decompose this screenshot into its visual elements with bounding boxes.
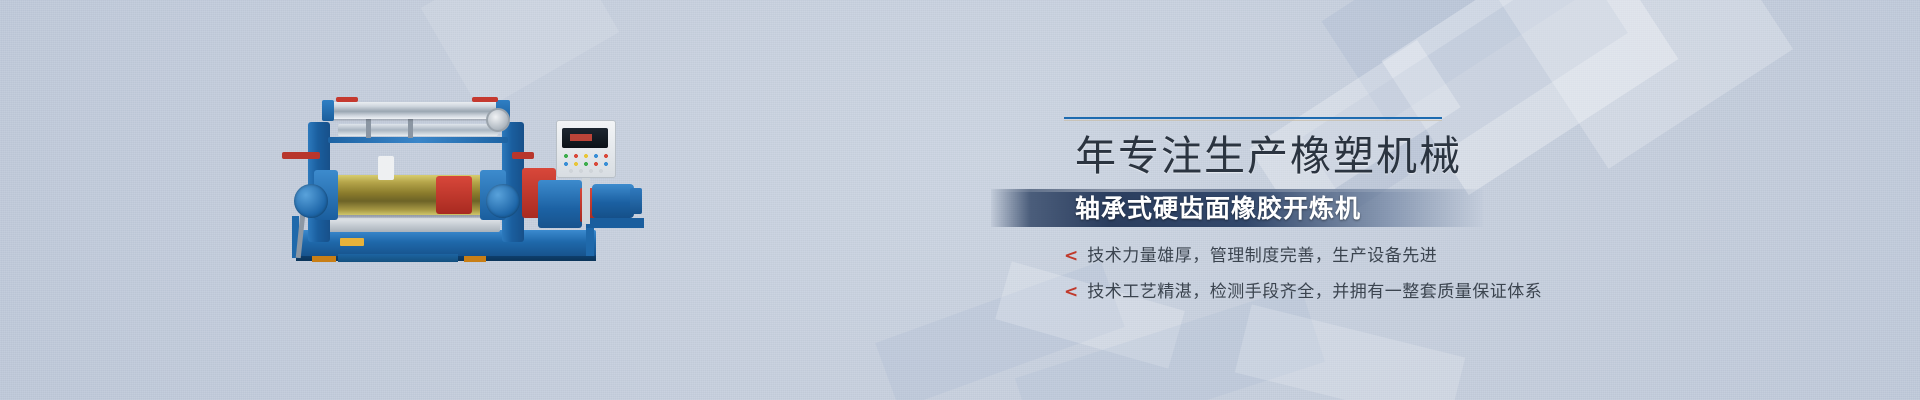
headline-rule-underline: [1064, 120, 1442, 121]
watermark-shape-4: [1467, 0, 1793, 169]
machine-base-slot: [338, 254, 458, 262]
machine-tray: [322, 218, 500, 232]
chevron-left-icon: <: [1064, 284, 1078, 301]
machine-top-roll-end-left: [322, 100, 334, 121]
machine-detail-red-right: [512, 152, 534, 159]
machine-control-panel-buttons: [562, 152, 610, 174]
machine-control-panel-post: [582, 178, 590, 224]
machine-foot-right: [464, 256, 486, 262]
feature-bullet-text: 技术力量雄厚，管理制度完善，生产设备先进: [1087, 245, 1437, 267]
machine-stock-blender-roll: [330, 102, 500, 119]
feature-bullet-text: 技术工艺精湛，检测手段齐全，并拥有一整套质量保证体系: [1087, 281, 1542, 303]
machine-red-guard: [436, 176, 472, 214]
machine-bearing-right: [486, 184, 520, 218]
watermark-shape-3: [1302, 0, 1628, 213]
ribbon-highlight: [991, 189, 1483, 192]
watermark-shape-1: [1322, 0, 1639, 122]
machine-red-bar-right: [472, 97, 498, 102]
feature-bullet-item: < 技术工艺精湛，检测手段齐全，并拥有一整套质量保证体系: [1064, 281, 1542, 303]
machine-foot-left: [312, 256, 336, 262]
watermark-shape-9: [1235, 304, 1465, 400]
machine-motor: [592, 184, 634, 218]
product-image-rubber-mixing-mill: [286, 96, 622, 262]
machine-mid-roll: [338, 124, 498, 136]
machine-motor-base: [586, 218, 644, 228]
headline-rule: [1064, 117, 1442, 119]
chevron-left-icon: <: [1064, 248, 1078, 265]
machine-bearing-left: [294, 184, 328, 218]
machine-detail-red-left: [282, 152, 320, 159]
machine-clamp-2: [408, 118, 413, 138]
machine-white-box: [378, 156, 394, 180]
machine-motor-fan: [630, 188, 642, 214]
feature-bullet-list: < 技术力量雄厚，管理制度完善，生产设备先进 < 技术工艺精湛，检测手段齐全，并…: [1064, 245, 1542, 317]
machine-clamp-1: [366, 118, 371, 138]
machine-nameplate: [340, 238, 364, 246]
machine-control-panel-screen: [562, 128, 608, 148]
machine-mid-bar: [328, 137, 508, 143]
machine-gearbox: [538, 180, 582, 228]
machine-pulley-wheel: [486, 108, 510, 132]
banner-headline: 年专注生产橡塑机械: [1075, 132, 1462, 180]
machine-red-bar-left: [336, 97, 358, 102]
ribbon-product-name: 轴承式硬齿面橡胶开炼机: [1075, 196, 1361, 222]
feature-bullet-item: < 技术力量雄厚，管理制度完善，生产设备先进: [1064, 245, 1542, 267]
hero-banner: 年专注生产橡塑机械 轴承式硬齿面橡胶开炼机 < 技术力量雄厚，管理制度完善，生产…: [0, 0, 1920, 400]
